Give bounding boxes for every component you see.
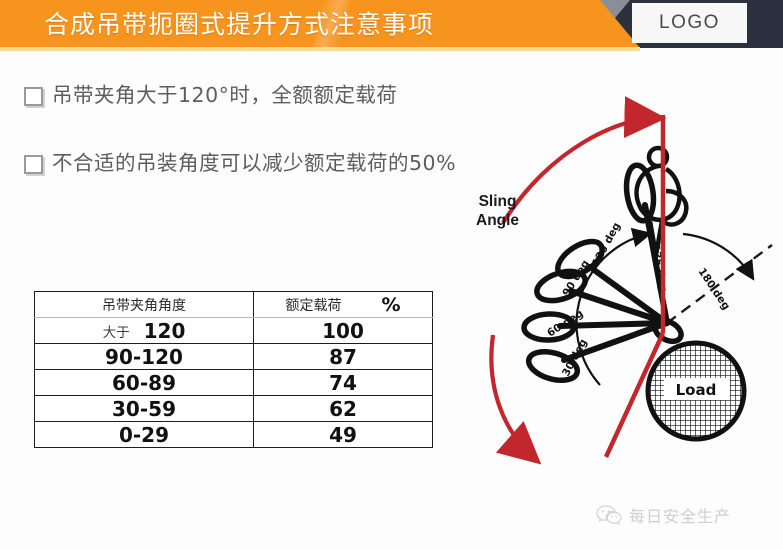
table-cell-angle-value: 120 [144,319,186,343]
sling-angle-label: Sling Angle [476,192,519,230]
table-cell-load: 62 [254,396,433,422]
table-header-load-label: 额定载荷 [285,295,341,315]
table-header-angle: 吊带夹角角度 [35,292,254,318]
bullet-item-1: 吊带夹角大于120°时，全额额定载荷 [24,78,397,108]
rated-load-table: 吊带夹角角度 额定载荷 % 大于 120 100 [34,291,433,448]
load-label: Load [676,381,717,399]
table-cell-load: 100 [254,318,433,344]
table-header-angle-label: 吊带夹角角度 [102,295,186,315]
table-cell-angle-prefix: 大于 [103,321,130,341]
square-bullet-icon [24,155,43,174]
footer-watermark-text: 每日安全生产 [629,503,731,527]
dashed-horizontal-axis [667,245,772,323]
table-row: 30-59 62 [35,396,433,422]
sling-angle-label-line1: Sling [476,192,519,211]
header-underline [0,47,640,51]
table-header-percent-label: % [381,294,400,316]
slide-header: 合成吊带扼圈式提升方式注意事项 LOGO [0,0,783,52]
bullet-text-1: 吊带夹角大于120°时，全额额定载荷 [52,78,397,108]
sling-angle-label-line2: Angle [476,211,519,230]
page-title: 合成吊带扼圈式提升方式注意事项 [44,7,434,43]
table-row: 60-89 74 [35,370,433,396]
wechat-icon [596,504,622,526]
bullet-item-2: 不合适的吊装角度可以减少额定载荷的50% [24,146,456,176]
table-row: 大于 120 100 [35,318,433,344]
table-cell-angle: 90-120 [35,344,254,370]
table-header-row: 吊带夹角角度 额定载荷 % [35,292,433,318]
angle-label-180: 180 deg [696,266,733,312]
table-cell-load: 49 [254,422,433,448]
angle-label-135: 135 deg [649,243,669,292]
rated-load-table-wrapper: 吊带夹角角度 额定载荷 % 大于 120 100 [34,291,430,448]
table-row: 0-29 49 [35,422,433,448]
table-row: 90-120 87 [35,344,433,370]
table-cell-angle: 60-89 [35,370,254,396]
load-object: Load [648,343,744,439]
footer-watermark: 每日安全生产 [596,503,731,527]
slide: 合成吊带扼圈式提升方式注意事项 LOGO 吊带夹角大于120°时，全额额定载荷 … [0,0,783,549]
table-cell-angle: 30-59 [35,396,254,422]
sling-diagram-svg: 30 deg 60 deg 90 deg 120 deg 135 deg 180… [440,95,783,485]
table-cell-load: 87 [254,344,433,370]
table-cell-load: 74 [254,370,433,396]
logo-text: LOGO [659,12,720,34]
logo-box[interactable]: LOGO [632,3,747,43]
table-header-load: 额定载荷 % [254,292,433,318]
sling-angle-diagram: 30 deg 60 deg 90 deg 120 deg 135 deg 180… [440,95,783,485]
table-cell-angle: 0-29 [35,422,254,448]
square-bullet-icon [24,87,43,106]
table-cell-angle: 大于 120 [35,318,254,344]
bullet-text-2: 不合适的吊装角度可以减少额定载荷的50% [52,146,456,176]
